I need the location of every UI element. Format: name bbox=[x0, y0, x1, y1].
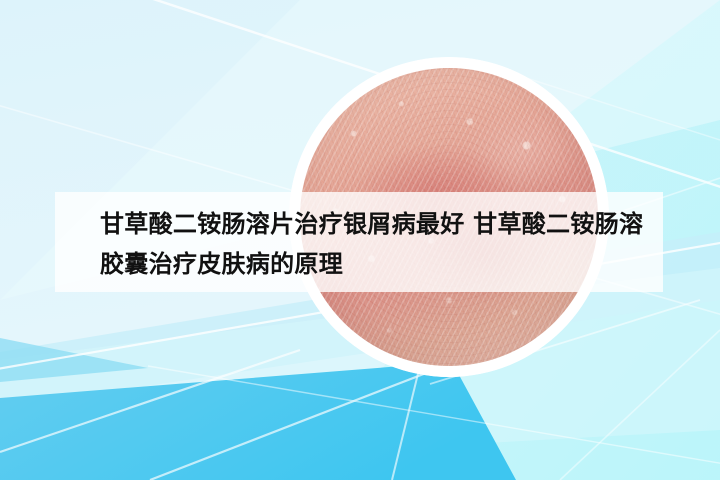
banner-canvas: 甘草酸二铵肠溶片治疗银屑病最好 甘草酸二铵肠溶胶囊治疗皮肤病的原理 bbox=[0, 0, 720, 480]
headline-title: 甘草酸二铵肠溶片治疗银屑病最好 甘草酸二铵肠溶胶囊治疗皮肤病的原理 bbox=[100, 204, 645, 284]
